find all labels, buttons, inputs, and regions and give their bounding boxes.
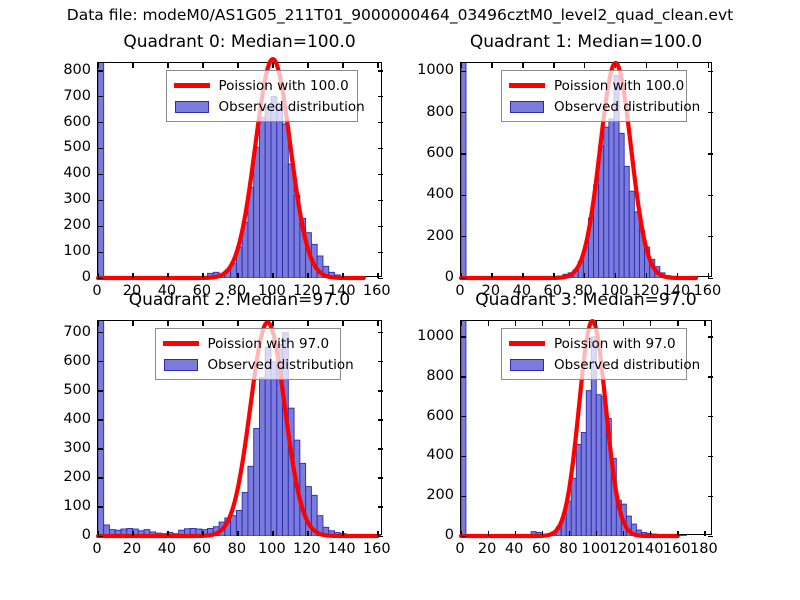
histogram-bar (645, 247, 650, 278)
x-tick-mark (584, 63, 585, 68)
histogram-bar (138, 531, 144, 536)
x-tick-mark (542, 321, 543, 326)
x-tick-mark (461, 531, 462, 536)
x-tick-mark (522, 273, 523, 278)
y-tick-mark (378, 419, 383, 420)
histogram-bar (581, 432, 586, 536)
y-tick-label: 100 (39, 243, 91, 259)
histogram-bar (629, 191, 634, 278)
histogram-bar (363, 535, 369, 536)
histogram-bar (133, 529, 139, 536)
histogram-bar (571, 478, 576, 536)
x-tick-mark (202, 531, 203, 536)
x-tick-mark (650, 321, 651, 326)
x-tick-mark (307, 531, 308, 536)
x-tick-label: 60 (193, 283, 211, 299)
legend-row-poisson: Poission with 100.0 (507, 75, 680, 96)
x-tick-mark (202, 63, 203, 68)
y-tick-label: 500 (39, 382, 91, 398)
legend-quadrant-2[interactable]: Poission with 97.0Observed distribution (155, 328, 341, 380)
x-tick-label: 40 (158, 283, 176, 299)
x-tick-mark (569, 531, 570, 536)
histogram-bar (340, 534, 346, 536)
histogram-bar (561, 518, 566, 536)
x-tick-label: 120 (632, 283, 660, 299)
y-tick-mark (98, 70, 103, 71)
histogram-bar (665, 276, 670, 278)
x-tick-label: 20 (478, 541, 496, 557)
y-tick-mark (98, 419, 103, 420)
histogram-bar (288, 408, 294, 536)
histogram-bar (317, 256, 323, 278)
x-tick-mark (623, 531, 624, 536)
histogram-bar (651, 534, 656, 536)
histogram-bar (646, 533, 651, 536)
histogram-bar (546, 534, 551, 536)
y-tick-mark (98, 226, 103, 227)
y-tick-label: 0 (39, 527, 91, 543)
histogram-bar (306, 487, 312, 536)
y-tick-mark (378, 536, 383, 537)
subplot-title-quadrant-0: Quadrant 0: Median=100.0 (57, 32, 422, 52)
histogram-bar (461, 319, 466, 536)
y-tick-label: 800 (39, 62, 91, 78)
subplot-title-quadrant-3: Quadrant 3: Median=97.0 (420, 290, 752, 310)
y-tick-mark (98, 96, 103, 97)
x-tick-mark (488, 321, 489, 326)
histogram-bar (271, 97, 277, 278)
histogram-bar (121, 529, 127, 536)
histogram-bar (675, 277, 680, 278)
x-tick-mark (461, 63, 462, 68)
histogram-bar (104, 525, 110, 536)
y-tick-mark (708, 336, 713, 337)
histogram-bar (144, 530, 150, 536)
histogram-bar (461, 59, 466, 278)
y-tick-label: 0 (39, 269, 91, 285)
x-tick-label: 100 (258, 541, 286, 557)
x-tick-mark (167, 531, 168, 536)
x-tick-label: 80 (228, 541, 246, 557)
y-tick-label: 0 (394, 527, 454, 543)
histogram-bar (271, 362, 277, 536)
histogram-bar (196, 277, 202, 278)
x-tick-mark (342, 273, 343, 278)
x-tick-mark (515, 321, 516, 326)
legend-label-observed: Observed distribution (554, 99, 700, 115)
histogram-bar (311, 244, 317, 278)
legend-row-poisson: Poission with 97.0 (161, 333, 334, 354)
histogram-bar (358, 535, 364, 536)
histogram-bar (563, 274, 568, 278)
legend-quadrant-0[interactable]: Poission with 100.0Observed distribution (166, 70, 358, 122)
y-tick-label: 1000 (394, 328, 454, 344)
legend-row-observed: Observed distribution (507, 354, 680, 375)
y-tick-label: 400 (39, 411, 91, 427)
histogram-bar (531, 532, 536, 536)
histogram-bar (660, 273, 665, 278)
y-tick-mark (378, 226, 383, 227)
histogram-bar (300, 218, 306, 278)
histogram-bar (225, 270, 231, 278)
x-tick-label: 120 (609, 541, 637, 557)
y-tick-mark (461, 416, 466, 417)
y-tick-mark (98, 252, 103, 253)
x-tick-label: 160 (663, 541, 691, 557)
x-tick-mark (98, 321, 99, 326)
legend-row-observed: Observed distribution (507, 96, 680, 117)
histogram-bar (184, 529, 190, 536)
y-tick-mark (461, 278, 466, 279)
x-tick-label: 140 (328, 541, 356, 557)
x-tick-label: 100 (258, 283, 286, 299)
y-tick-label: 0 (394, 269, 454, 285)
x-tick-label: 0 (92, 541, 101, 557)
legend-row-observed: Observed distribution (172, 96, 351, 117)
x-tick-mark (167, 63, 168, 68)
histogram-bar (161, 534, 167, 536)
histogram-bar (259, 378, 265, 536)
y-tick-label: 200 (39, 217, 91, 233)
histogram-bar (127, 528, 133, 536)
x-tick-mark (132, 531, 133, 536)
histogram-bar (670, 277, 675, 278)
y-tick-mark (708, 496, 713, 497)
y-tick-mark (378, 448, 383, 449)
y-tick-mark (708, 195, 713, 196)
histogram-bar (334, 275, 340, 278)
histogram-bar (606, 419, 611, 536)
histogram-bar (277, 107, 283, 278)
histogram-bar (248, 187, 254, 278)
histogram-bar (329, 272, 335, 278)
x-tick-label: 160 (363, 283, 391, 299)
legend-quadrant-3[interactable]: Poission with 97.0Observed distribution (501, 328, 687, 380)
y-tick-label: 400 (394, 186, 454, 202)
y-tick-mark (461, 496, 466, 497)
y-tick-mark (378, 70, 383, 71)
legend-label-observed: Observed distribution (219, 99, 365, 115)
y-tick-mark (378, 148, 383, 149)
y-tick-mark (98, 477, 103, 478)
x-tick-mark (708, 63, 709, 68)
legend-row-poisson: Poission with 97.0 (507, 333, 680, 354)
histogram-bar (242, 492, 248, 536)
histogram-bar (283, 124, 289, 278)
histogram-bar (551, 532, 556, 536)
x-tick-label: 0 (455, 283, 464, 299)
x-tick-label: 20 (482, 283, 500, 299)
histogram-bar (248, 466, 254, 536)
x-tick-label: 40 (158, 541, 176, 557)
legend-patch-key-icon (507, 98, 547, 116)
histogram-bar (259, 117, 265, 278)
x-tick-label: 160 (694, 283, 722, 299)
histogram-bar (578, 261, 583, 278)
histogram-bar (219, 274, 225, 278)
y-tick-mark (378, 96, 383, 97)
histogram-bar (150, 532, 156, 536)
y-tick-mark (98, 148, 103, 149)
x-tick-label: 40 (513, 283, 531, 299)
x-tick-mark (272, 273, 273, 278)
histogram-bar (311, 495, 317, 536)
x-tick-mark (623, 321, 624, 326)
y-tick-mark (378, 506, 383, 507)
x-tick-mark (167, 321, 168, 326)
histogram-bar (541, 535, 546, 536)
x-tick-mark (98, 531, 99, 536)
matplotlib-figure: Data file: modeM0/AS1G05_211T01_90000004… (0, 0, 800, 600)
y-tick-mark (461, 112, 466, 113)
histogram-bar (208, 273, 214, 278)
x-tick-mark (272, 531, 273, 536)
legend-line-key-icon (507, 335, 547, 353)
x-tick-label: 60 (544, 283, 562, 299)
histogram-bar (601, 397, 606, 536)
x-tick-mark (515, 531, 516, 536)
legend-patch-key-icon (507, 356, 547, 374)
x-tick-mark (646, 63, 647, 68)
y-tick-label: 200 (39, 469, 91, 485)
x-tick-label: 140 (328, 283, 356, 299)
legend-label-poisson: Poission with 100.0 (554, 78, 684, 94)
histogram-bar (231, 264, 237, 278)
histogram-bar (536, 532, 541, 536)
y-tick-mark (378, 122, 383, 123)
histogram-bar (611, 458, 616, 536)
histogram-bar (208, 528, 214, 536)
histogram-bar (609, 119, 614, 278)
histogram-bar (604, 127, 609, 278)
y-tick-mark (378, 200, 383, 201)
y-tick-label: 200 (394, 228, 454, 244)
y-tick-mark (98, 200, 103, 201)
x-tick-mark (167, 273, 168, 278)
histogram-bar (655, 267, 660, 278)
y-tick-label: 700 (39, 88, 91, 104)
y-tick-label: 300 (39, 440, 91, 456)
x-tick-mark (677, 321, 678, 326)
histogram-bar (624, 166, 629, 278)
histogram-bar (109, 530, 115, 536)
histogram-bar (661, 535, 666, 536)
x-tick-mark (272, 63, 273, 68)
histogram-bar (576, 444, 581, 536)
x-tick-label: 100 (601, 283, 629, 299)
x-tick-mark (342, 63, 343, 68)
x-tick-label: 80 (228, 283, 246, 299)
x-tick-label: 20 (123, 283, 141, 299)
x-tick-mark (542, 531, 543, 536)
x-tick-label: 20 (123, 541, 141, 557)
histogram-bar (334, 533, 340, 536)
y-tick-mark (461, 195, 466, 196)
x-tick-mark (377, 321, 378, 326)
y-tick-mark (378, 252, 383, 253)
x-tick-label: 120 (293, 541, 321, 557)
x-tick-mark (98, 273, 99, 278)
x-tick-mark (461, 273, 462, 278)
y-tick-label: 100 (39, 498, 91, 514)
histogram-bar (202, 277, 208, 278)
x-tick-mark (272, 321, 273, 326)
histogram-bar (621, 504, 626, 536)
y-tick-label: 600 (39, 114, 91, 130)
x-tick-mark (553, 63, 554, 68)
x-tick-label: 40 (505, 541, 523, 557)
x-tick-mark (237, 321, 238, 326)
histogram-bar (288, 164, 294, 278)
histogram-bar (596, 395, 601, 536)
subplot-title-quadrant-1: Quadrant 1: Median=100.0 (420, 32, 752, 52)
x-tick-mark (584, 273, 585, 278)
y-tick-mark (461, 456, 466, 457)
x-tick-mark (342, 531, 343, 536)
y-tick-mark (708, 456, 713, 457)
histogram-bar (294, 195, 300, 278)
histogram-bar (300, 463, 306, 536)
legend-line-key-icon (161, 335, 201, 353)
histogram-bar (566, 501, 571, 536)
x-tick-mark (237, 531, 238, 536)
x-tick-label: 140 (663, 283, 691, 299)
x-tick-label: 60 (532, 541, 550, 557)
y-tick-mark (378, 278, 383, 279)
histogram-bar (599, 146, 604, 278)
legend-label-poisson: Poission with 97.0 (208, 336, 330, 352)
figure-suptitle: Data file: modeM0/AS1G05_211T01_90000004… (0, 6, 800, 24)
x-tick-label: 60 (193, 541, 211, 557)
histogram-bar (225, 518, 231, 536)
x-tick-mark (132, 63, 133, 68)
x-tick-mark (553, 273, 554, 278)
x-tick-mark (237, 273, 238, 278)
y-tick-mark (98, 536, 103, 537)
histogram-bar (548, 277, 553, 278)
y-tick-mark (378, 361, 383, 362)
histogram-bar (236, 510, 242, 536)
x-tick-mark (342, 321, 343, 326)
histogram-bar (656, 535, 661, 536)
x-tick-mark (132, 273, 133, 278)
histogram-bar (352, 277, 358, 278)
x-tick-mark (132, 321, 133, 326)
histogram-bar (306, 233, 312, 278)
y-tick-label: 200 (394, 487, 454, 503)
histogram-bar (98, 316, 104, 536)
histogram-bar (294, 440, 300, 536)
legend-line-key-icon (507, 77, 547, 95)
y-tick-label: 600 (39, 353, 91, 369)
histogram-bar (213, 272, 219, 278)
y-tick-mark (708, 236, 713, 237)
y-tick-mark (98, 332, 103, 333)
histogram-bar (173, 534, 179, 536)
x-tick-mark (677, 531, 678, 536)
histogram-bar (115, 530, 121, 536)
subplot-quadrant-1: Quadrant 1: Median=100.00200400600800100… (0, 0, 800, 600)
x-tick-mark (202, 321, 203, 326)
subplot-title-quadrant-2: Quadrant 2: Median=97.0 (57, 290, 422, 310)
histogram-bar (369, 535, 375, 536)
y-tick-label: 600 (394, 408, 454, 424)
x-tick-label: 100 (582, 541, 610, 557)
legend-quadrant-1[interactable]: Poission with 100.0Observed distribution (501, 70, 687, 122)
histogram-bar (568, 273, 573, 278)
x-tick-mark (377, 273, 378, 278)
x-tick-mark (677, 273, 678, 278)
histogram-bar (329, 531, 335, 536)
x-tick-mark (491, 273, 492, 278)
histogram-bar (265, 107, 271, 278)
y-tick-mark (708, 153, 713, 154)
histogram-bar (616, 500, 621, 536)
y-tick-mark (98, 390, 103, 391)
histogram-bar (340, 276, 346, 278)
histogram-bar (352, 535, 358, 536)
histogram-bar (219, 522, 225, 536)
x-tick-label: 80 (574, 283, 592, 299)
histogram-bar (254, 147, 260, 278)
x-tick-mark (708, 273, 709, 278)
histogram-bar (323, 266, 329, 278)
legend-label-observed: Observed distribution (554, 357, 700, 373)
histogram-bar (167, 533, 173, 536)
histogram-bar (631, 524, 636, 536)
legend-patch-key-icon (161, 356, 201, 374)
y-tick-mark (461, 236, 466, 237)
y-tick-label: 700 (39, 324, 91, 340)
x-tick-label: 0 (455, 541, 464, 557)
legend-label-poisson: Poission with 97.0 (554, 336, 676, 352)
y-tick-mark (708, 376, 713, 377)
y-tick-mark (378, 477, 383, 478)
y-tick-mark (461, 153, 466, 154)
histogram-bar (619, 133, 624, 278)
x-tick-mark (650, 531, 651, 536)
y-tick-mark (461, 376, 466, 377)
histogram-bar (317, 516, 323, 536)
y-tick-label: 600 (394, 145, 454, 161)
legend-label-poisson: Poission with 100.0 (219, 78, 349, 94)
legend-line-key-icon (172, 77, 212, 95)
legend-row-observed: Observed distribution (161, 354, 334, 375)
y-tick-mark (708, 278, 713, 279)
histogram-bar (346, 535, 352, 536)
histogram-bar (156, 533, 162, 536)
y-tick-mark (98, 122, 103, 123)
y-tick-mark (708, 71, 713, 72)
x-tick-mark (307, 321, 308, 326)
x-tick-mark (522, 63, 523, 68)
x-tick-mark (491, 63, 492, 68)
histogram-bar (196, 529, 202, 536)
y-tick-label: 400 (39, 165, 91, 181)
histogram-bar (236, 247, 242, 278)
histogram-bar (626, 516, 631, 536)
histogram-bar (573, 270, 578, 278)
histogram-bar (375, 535, 381, 536)
y-tick-label: 800 (394, 104, 454, 120)
x-tick-mark (237, 63, 238, 68)
histogram-bar (553, 277, 558, 278)
histogram-bar (323, 527, 329, 536)
x-tick-label: 80 (559, 541, 577, 557)
x-tick-label: 180 (690, 541, 718, 557)
x-tick-mark (377, 63, 378, 68)
histogram-bar (641, 532, 646, 536)
